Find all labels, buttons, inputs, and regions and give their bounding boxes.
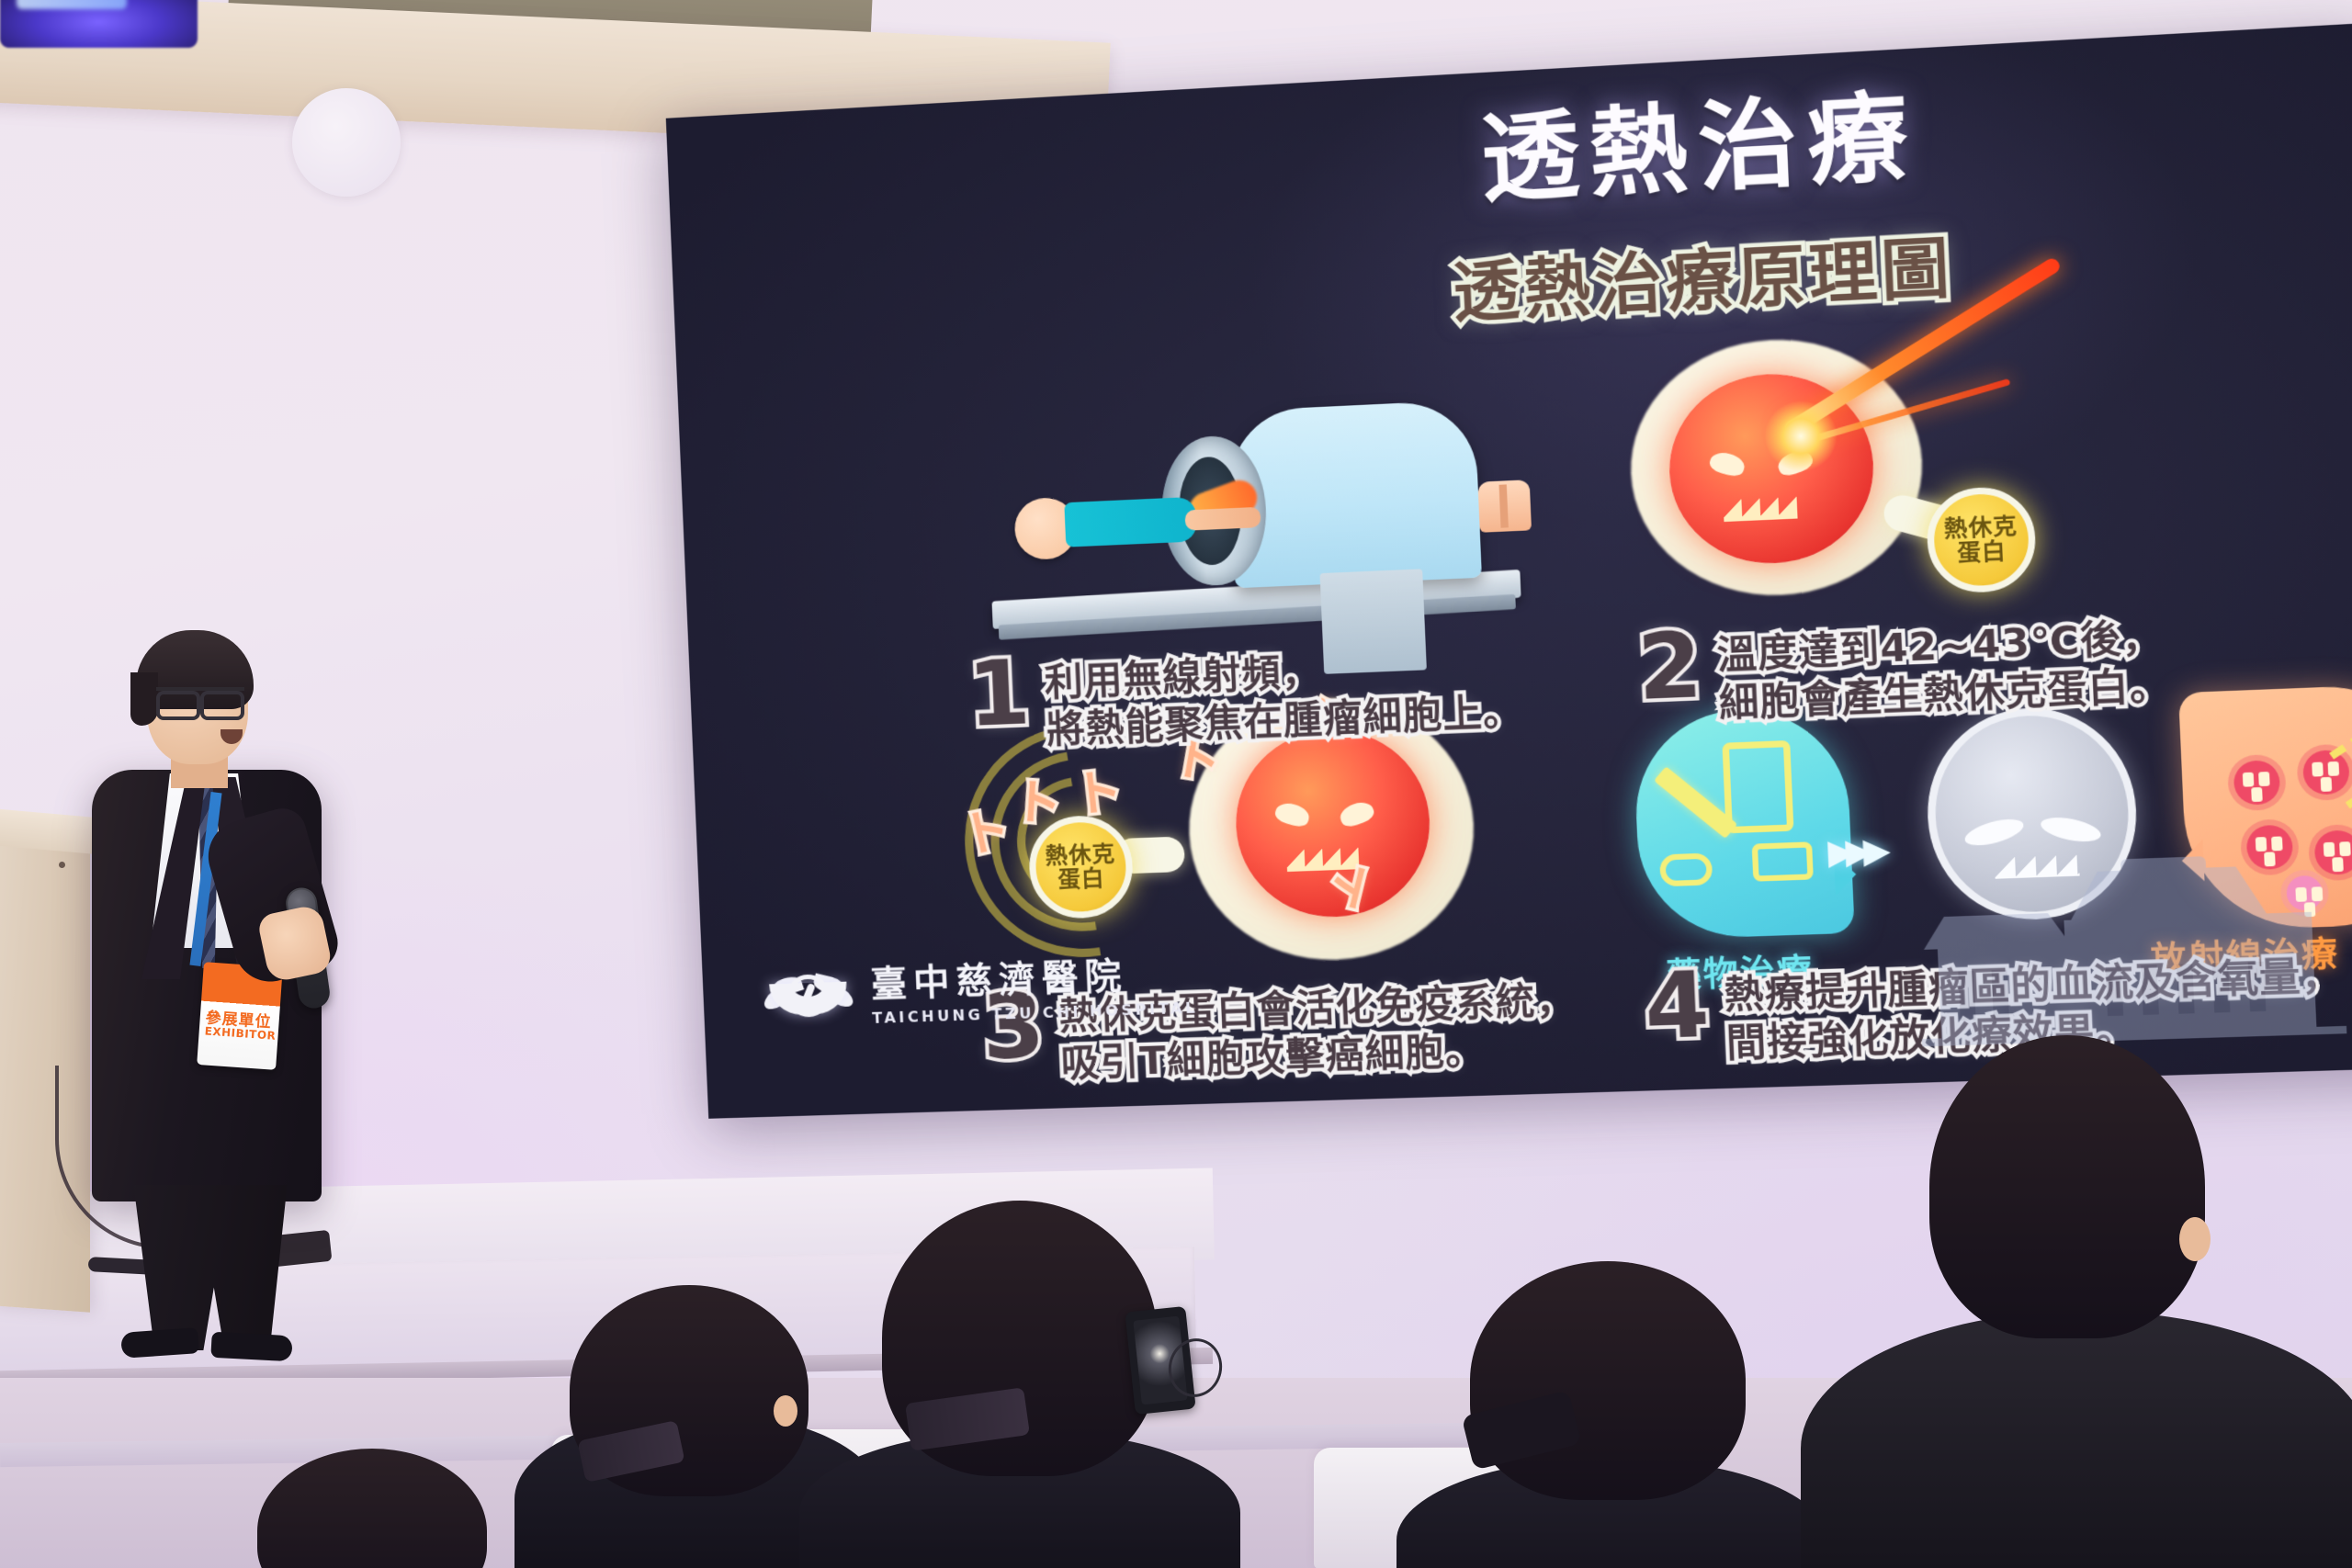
podium-fitting bbox=[59, 862, 65, 868]
hsp-badge: 熱休克 蛋白 bbox=[1925, 485, 2037, 594]
hsp-label-line2: 蛋白 bbox=[1957, 539, 2007, 567]
radiation-ray-1 bbox=[2329, 704, 2352, 760]
patient-legs bbox=[1184, 507, 1261, 531]
step-2-number: 2 bbox=[1636, 626, 1704, 706]
audience-member-left bbox=[533, 1292, 845, 1568]
mri-scanner-illustration bbox=[984, 389, 1542, 647]
sad-eye-right bbox=[2039, 813, 2103, 846]
projection-screen: 透熱治療 透熱治療原理圖 熱 bbox=[666, 22, 2352, 1118]
hsp-label-line1: 熱休克 bbox=[1943, 513, 2018, 542]
audience-member-right bbox=[1433, 1265, 1764, 1568]
t-cell-icon-2: ト bbox=[1012, 762, 1064, 835]
tumor-mouth bbox=[1723, 492, 1797, 522]
logo-text-block: 臺中慈濟醫院 TAICHUNG TZU CHI HOSPITAL bbox=[870, 955, 1199, 1026]
cancer-virus-icon-2 bbox=[2302, 750, 2350, 795]
audience-hair bbox=[1470, 1261, 1746, 1500]
ceiling-light-fixture bbox=[0, 0, 198, 48]
tumor-heating-illustration: 熱休克 蛋白 bbox=[1614, 288, 2254, 629]
patient-feet bbox=[1477, 479, 1532, 533]
patient-torso bbox=[1064, 497, 1197, 547]
audience-hair bbox=[1929, 1035, 2205, 1338]
wall-disc-decor bbox=[292, 88, 401, 197]
conference-photo-scene: 透熱治療 透熱治療原理圖 熱 bbox=[0, 0, 2352, 1568]
drug-therapy-bubble bbox=[1632, 706, 1855, 941]
hsp3-label-line2: 蛋白 bbox=[1057, 866, 1105, 892]
slide-title: 透熱治療 bbox=[1477, 58, 1920, 221]
presenter-shoe-left bbox=[120, 1327, 199, 1359]
step-4-number: 4 bbox=[1643, 966, 1711, 1046]
audience-shoulders bbox=[1801, 1311, 2352, 1568]
capsule-box-icon bbox=[1752, 841, 1814, 881]
cancer-virus-icon-1 bbox=[2233, 760, 2281, 806]
audience-ear bbox=[774, 1395, 797, 1427]
step-2: 2 溫度達到42~43℃後， 細胞會產生熱休克蛋白。 bbox=[1636, 607, 2172, 730]
step-1: 1 利用無線射頻， 將熱能聚焦在腫瘤細胞上。 bbox=[967, 634, 1524, 756]
presenter: 參展單位 EXHIBITOR bbox=[83, 634, 358, 1332]
sad-eye-left bbox=[1962, 814, 2026, 851]
pill-icon bbox=[1659, 852, 1713, 886]
logo-chinese-name: 臺中慈濟醫院 bbox=[870, 955, 1197, 1002]
audience-member-photographer bbox=[827, 1201, 1213, 1568]
audience-member-back-right bbox=[1856, 1035, 2297, 1568]
step-1-text: 利用無線射頻， 將熱能聚焦在腫瘤細胞上。 bbox=[1044, 634, 1524, 753]
medicine-bottle-icon bbox=[1722, 740, 1793, 833]
scanner-gantry bbox=[1227, 400, 1482, 588]
presenter-trousers bbox=[123, 1185, 298, 1350]
audience-ear bbox=[2179, 1217, 2211, 1261]
lotus-icon bbox=[761, 966, 855, 1030]
glasses-icon bbox=[156, 687, 244, 711]
step-1-number: 1 bbox=[967, 655, 1032, 734]
audience-hair bbox=[257, 1449, 487, 1568]
step-2-text: 溫度達到42~43℃後， 細胞會產生熱休克蛋白。 bbox=[1716, 607, 2173, 728]
audience-member-far-left bbox=[230, 1458, 514, 1568]
presenter-shoe-right bbox=[210, 1332, 292, 1362]
t-cell-icon-3: ト bbox=[1069, 751, 1125, 826]
hsp3-label-line1: 熱休克 bbox=[1045, 841, 1115, 868]
